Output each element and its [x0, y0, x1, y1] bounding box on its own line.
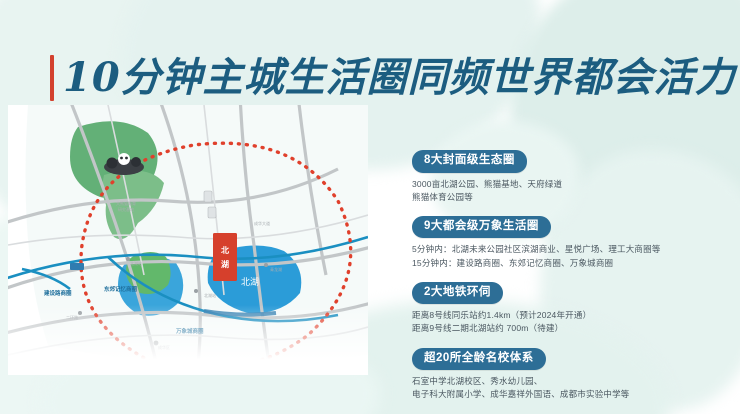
badge-commerce: 9大都会级万象生活圈 — [412, 216, 551, 239]
svg-text:成华大道: 成华大道 — [254, 220, 270, 226]
info-line: 3000亩北湖公园、熊猫基地、天府绿道 — [412, 178, 730, 191]
page-title: 10分钟主城生活圈同频世界都会活力 — [50, 55, 736, 101]
svg-text:湖: 湖 — [221, 259, 229, 269]
badge-metro-label: 2大地铁环伺 — [424, 287, 491, 299]
info-line: 5分钟内：北湖未来公园社区滨湖商业、星悦广场、理工大商圈等 — [412, 243, 730, 256]
slide-root: 10分钟主城生活圈同频世界都会活力 — [0, 0, 740, 414]
info-block-education-body: 石室中学北湖校区、秀水幼儿园、 电子科大附属小学、成华嘉祥外国语、成都市实验中学… — [412, 375, 730, 401]
info-line: 石室中学北湖校区、秀水幼儿园、 — [412, 375, 730, 388]
info-block-eco-body: 3000亩北湖公园、熊猫基地、天府绿道 熊猫体育公园等 — [412, 178, 730, 204]
info-line: 距离9号线二期北湖站约 700m（待建） — [412, 322, 730, 335]
info-block-education: 超20所全龄名校体系 石室中学北湖校区、秀水幼儿园、 电子科大附属小学、成华嘉祥… — [412, 348, 730, 402]
svg-text:北湖站: 北湖站 — [130, 260, 142, 266]
info-block-metro: 2大地铁环伺 距离8号线同乐站约1.4km（预计2024年开通） 距离9号线二期… — [412, 282, 730, 336]
svg-text:大熊猫繁育: 大熊猫繁育 — [116, 200, 136, 206]
info-list: 8大封面级生态圈 3000亩北湖公园、熊猫基地、天府绿道 熊猫体育公园等 9大都… — [412, 150, 730, 413]
info-block-metro-body: 距离8号线同乐站约1.4km（预计2024年开通） 距离9号线二期北湖站约 70… — [412, 309, 730, 335]
badge-eco-label: 8大封面级生态圈 — [424, 155, 515, 167]
svg-text:成华区: 成华区 — [158, 344, 170, 350]
info-block-commerce: 9大都会级万象生活圈 5分钟内：北湖未来公园社区滨湖商业、星悦广场、理工大商圈等… — [412, 216, 730, 270]
badge-education-label: 超20所全龄名校体系 — [424, 353, 534, 365]
svg-text:北湖站: 北湖站 — [204, 292, 216, 298]
info-line: 电子科大附属小学、成华嘉祥外国语、成都市实验中学等 — [412, 388, 730, 401]
project-marker: 北 湖 — [213, 233, 237, 281]
map-label-lake: 北湖 — [241, 277, 259, 288]
map-label-business-district: 万象城商圈 — [175, 327, 204, 335]
location-map: 北 湖 北湖 建设路商圈 东郊记忆商圈 万象城商圈 大熊猫繁育 研究基地 北湖站… — [8, 105, 368, 375]
title-text: 10分钟主城生活圈同频世界都会活力 — [63, 58, 736, 98]
badge-education: 超20所全龄名校体系 — [412, 348, 546, 371]
info-line: 15分钟内：建设路商圈、东郊记忆商圈、万象城商圈 — [412, 257, 730, 270]
svg-text:研究基地: 研究基地 — [118, 206, 134, 212]
map-label-business-district: 东郊记忆商圈 — [104, 285, 138, 293]
svg-text:北: 北 — [221, 245, 229, 255]
svg-text:青龙湖: 青龙湖 — [270, 266, 282, 272]
info-line: 熊猫体育公园等 — [412, 191, 730, 204]
badge-metro: 2大地铁环伺 — [412, 282, 503, 305]
map-label-business-district: 建设路商圈 — [44, 289, 72, 297]
info-block-eco: 8大封面级生态圈 3000亩北湖公园、熊猫基地、天府绿道 熊猫体育公园等 — [412, 150, 730, 204]
badge-eco: 8大封面级生态圈 — [412, 150, 527, 173]
svg-text:二环路: 二环路 — [66, 314, 78, 320]
title-accent-bar — [50, 55, 54, 101]
info-line: 距离8号线同乐站约1.4km（预计2024年开通） — [412, 309, 730, 322]
info-block-commerce-body: 5分钟内：北湖未来公园社区滨湖商业、星悦广场、理工大商圈等 15分钟内：建设路商… — [412, 243, 730, 269]
badge-commerce-label: 9大都会级万象生活圈 — [424, 221, 539, 233]
